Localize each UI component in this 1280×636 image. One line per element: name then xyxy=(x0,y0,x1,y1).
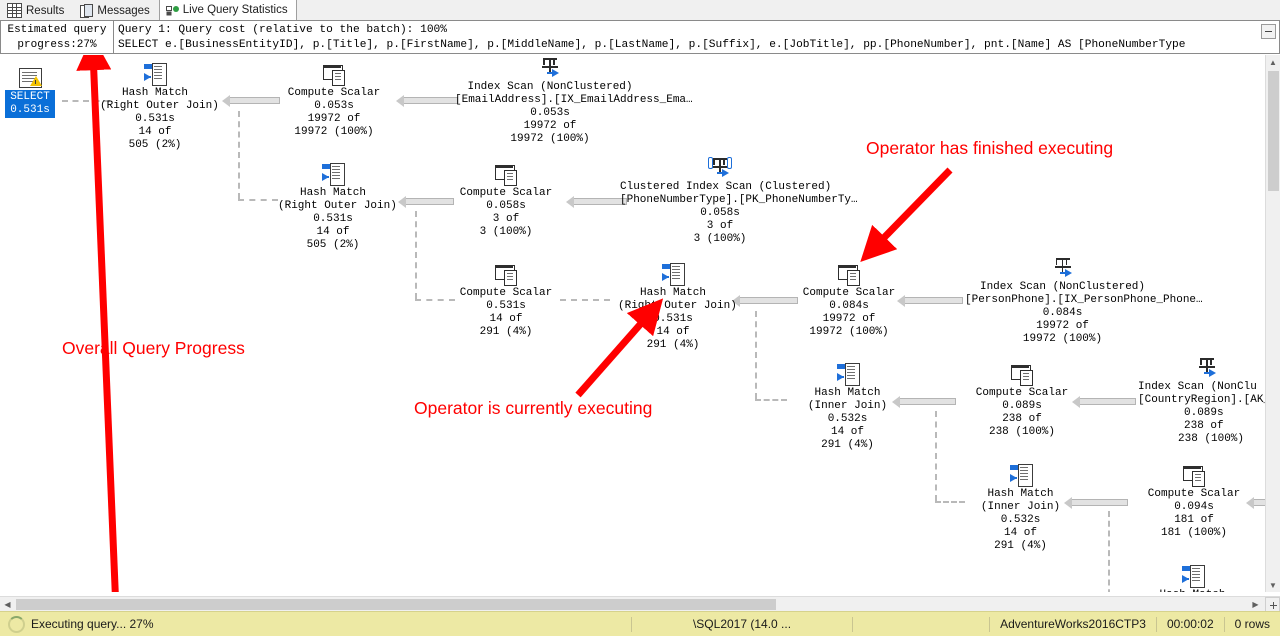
horizontal-scroll-thumb[interactable] xyxy=(16,599,776,610)
status-divider xyxy=(852,617,853,632)
live-stats-icon xyxy=(166,4,179,17)
message-icon xyxy=(80,4,93,17)
query-cost-line: Query 1: Query cost (relative to the bat… xyxy=(118,23,1279,38)
estimated-progress-line1: Estimated query xyxy=(7,24,106,36)
query-cost-and-sql-box: Query 1: Query cost (relative to the bat… xyxy=(113,20,1280,54)
results-tab-strip: Results Messages Live Query Statistics xyxy=(0,0,1280,21)
tab-results[interactable]: Results xyxy=(0,0,73,20)
tab-live-query-statistics[interactable]: Live Query Statistics xyxy=(159,0,297,21)
status-rows: 0 rows xyxy=(1225,617,1280,631)
scroll-right-button[interactable]: ▶ xyxy=(1248,597,1263,612)
scroll-down-button[interactable]: ▼ xyxy=(1266,578,1280,592)
tab-live-query-statistics-label: Live Query Statistics xyxy=(183,4,288,16)
grid-icon xyxy=(7,3,22,18)
vertical-scrollbar[interactable]: ▲ ▼ xyxy=(1265,55,1280,592)
status-executing-text: Executing query... 27% xyxy=(31,617,631,631)
status-bar: Executing query... 27% \SQL2017 (14.0 ..… xyxy=(0,611,1280,636)
tab-results-label: Results xyxy=(26,5,64,17)
annotation-arrow-finished xyxy=(0,55,1266,592)
query-sql-line: SELECT e.[BusinessEntityID], p.[Title], … xyxy=(118,38,1279,53)
status-elapsed: 00:00:02 xyxy=(1157,617,1224,631)
vertical-scroll-thumb[interactable] xyxy=(1268,71,1279,191)
scroll-left-button[interactable]: ◀ xyxy=(0,597,15,612)
status-database: AdventureWorks2016CTP3 xyxy=(990,617,1156,631)
zoom-to-fit-button[interactable] xyxy=(1265,597,1280,612)
estimated-progress-line2: progress:27% xyxy=(17,39,96,51)
tab-messages-label: Messages xyxy=(97,5,149,17)
tab-messages[interactable]: Messages xyxy=(73,0,158,20)
horizontal-scrollbar[interactable]: ◀ ▶ xyxy=(0,596,1280,612)
status-server: \SQL2017 (14.0 ... xyxy=(632,617,852,631)
scroll-up-button[interactable]: ▲ xyxy=(1266,55,1280,69)
estimated-query-progress-box: Estimated query progress:27% xyxy=(0,20,113,54)
spinner-icon xyxy=(8,616,25,633)
execution-plan-canvas[interactable]: SELECT 0.531s Hash Match (Right Outer Jo… xyxy=(0,55,1266,592)
collapse-query-pane-button[interactable] xyxy=(1261,24,1276,39)
query-header-pane: Estimated query progress:27% Query 1: Qu… xyxy=(0,20,1280,54)
